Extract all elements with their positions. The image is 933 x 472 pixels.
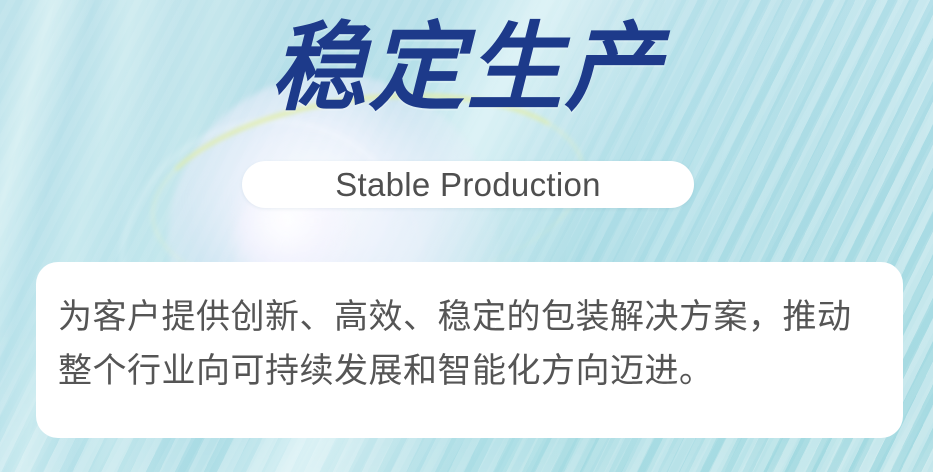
page-title: 稳定生产 — [0, 17, 933, 121]
stable-production-banner: 稳定生产 Stable Production 为客户提供创新、高效、稳定的包装解… — [0, 0, 933, 472]
description-text: 为客户提供创新、高效、稳定的包装解决方案，推动整个行业向可持续发展和智能化方向迈… — [58, 290, 881, 398]
subtitle-pill: Stable Production — [242, 161, 694, 208]
subtitle-text: Stable Production — [335, 168, 601, 201]
description-card: 为客户提供创新、高效、稳定的包装解决方案，推动整个行业向可持续发展和智能化方向迈… — [36, 262, 903, 438]
